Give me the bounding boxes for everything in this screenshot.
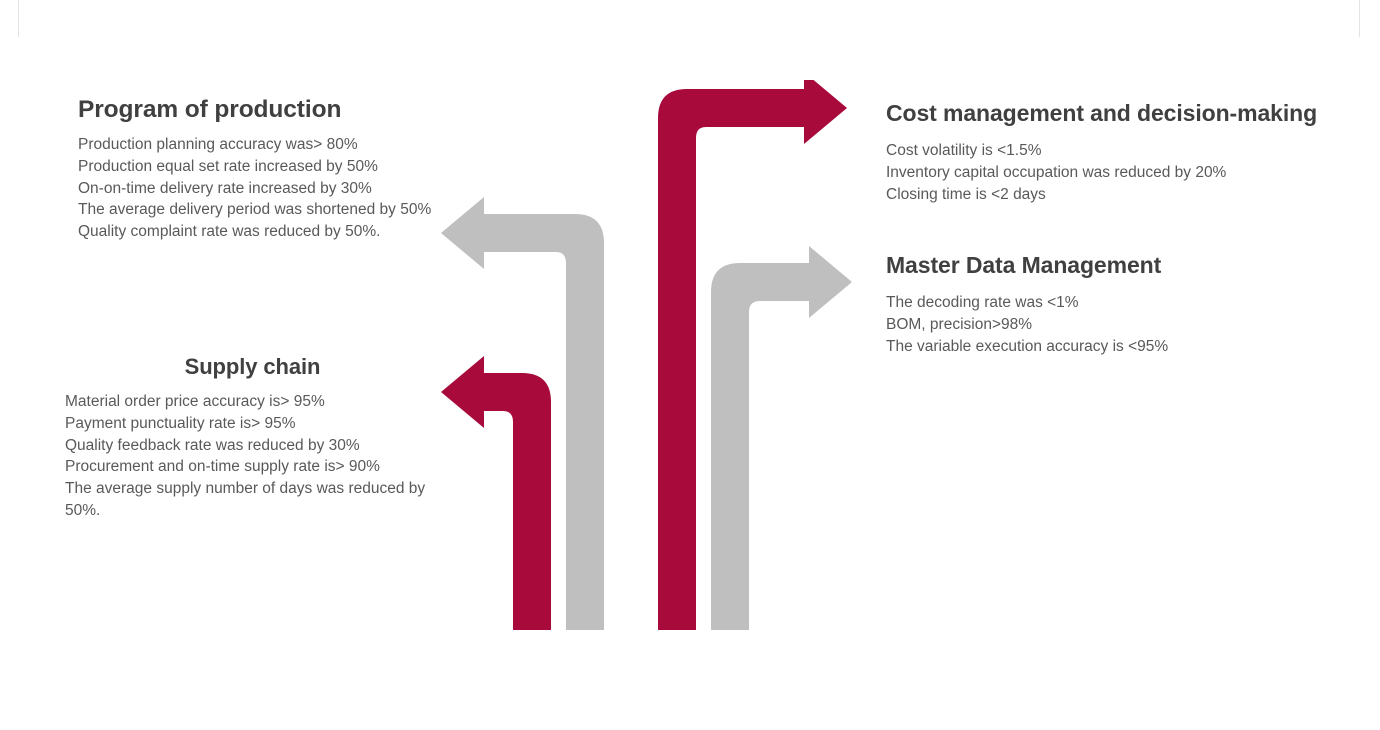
slide-canvas: Program of production Production plannin…: [0, 0, 1380, 730]
program-metric-list: Production planning accuracy was> 80% Pr…: [78, 134, 468, 243]
program-metric-item: The average delivery period was shortene…: [78, 199, 468, 221]
master-data-metric-list: The decoding rate was <1% BOM, precision…: [886, 292, 1286, 357]
program-metric-item: Quality complaint rate was reduced by 50…: [78, 221, 468, 243]
master-data-metric-item: The decoding rate was <1%: [886, 292, 1286, 314]
supply-chain-metric-item: Payment punctuality rate is> 95%: [65, 413, 440, 435]
crop-guide-mark-left: [18, 0, 19, 37]
supply-chain-metric-item: The average supply number of days was re…: [65, 478, 440, 522]
cost-management-metric-item: Cost volatility is <1.5%: [886, 140, 1306, 162]
block-program-of-production: Program of production Production plannin…: [78, 96, 468, 243]
cost-management-metric-item: Inventory capital occupation was reduced…: [886, 162, 1306, 184]
cost-management-title: Cost management and decision-making: [886, 100, 1306, 127]
cost-management-metric-list: Cost volatility is <1.5% Inventory capit…: [886, 140, 1306, 205]
block-supply-chain: Supply chain Material order price accura…: [65, 354, 440, 522]
program-metric-item: Production equal set rate increased by 5…: [78, 156, 468, 178]
program-title: Program of production: [78, 96, 468, 124]
supply-chain-arrow: [441, 356, 551, 630]
crop-guide-mark-right: [1359, 0, 1360, 37]
block-cost-management: Cost management and decision-making Cost…: [886, 100, 1306, 205]
master-data-title: Master Data Management: [886, 252, 1286, 279]
arrow-loop-diagram: [440, 80, 860, 630]
supply-chain-metric-item: Procurement and on-time supply rate is> …: [65, 456, 440, 478]
program-metric-item: Production planning accuracy was> 80%: [78, 134, 468, 156]
master-data-metric-item: The variable execution accuracy is <95%: [886, 336, 1286, 358]
masterdata-out-arrow: [711, 246, 852, 630]
block-master-data-management: Master Data Management The decoding rate…: [886, 252, 1286, 357]
production-to-cost-arrow: [658, 80, 847, 630]
cost-management-metric-item: Closing time is <2 days: [886, 184, 1306, 206]
supply-chain-metric-item: Material order price accuracy is> 95%: [65, 391, 440, 413]
supply-chain-title: Supply chain: [65, 354, 440, 380]
master-data-metric-item: BOM, precision>98%: [886, 314, 1286, 336]
supply-chain-metric-item: Quality feedback rate was reduced by 30%: [65, 435, 440, 457]
supply-chain-metric-list: Material order price accuracy is> 95% Pa…: [65, 391, 440, 522]
program-metric-item: On-on-time delivery rate increased by 30…: [78, 178, 468, 200]
